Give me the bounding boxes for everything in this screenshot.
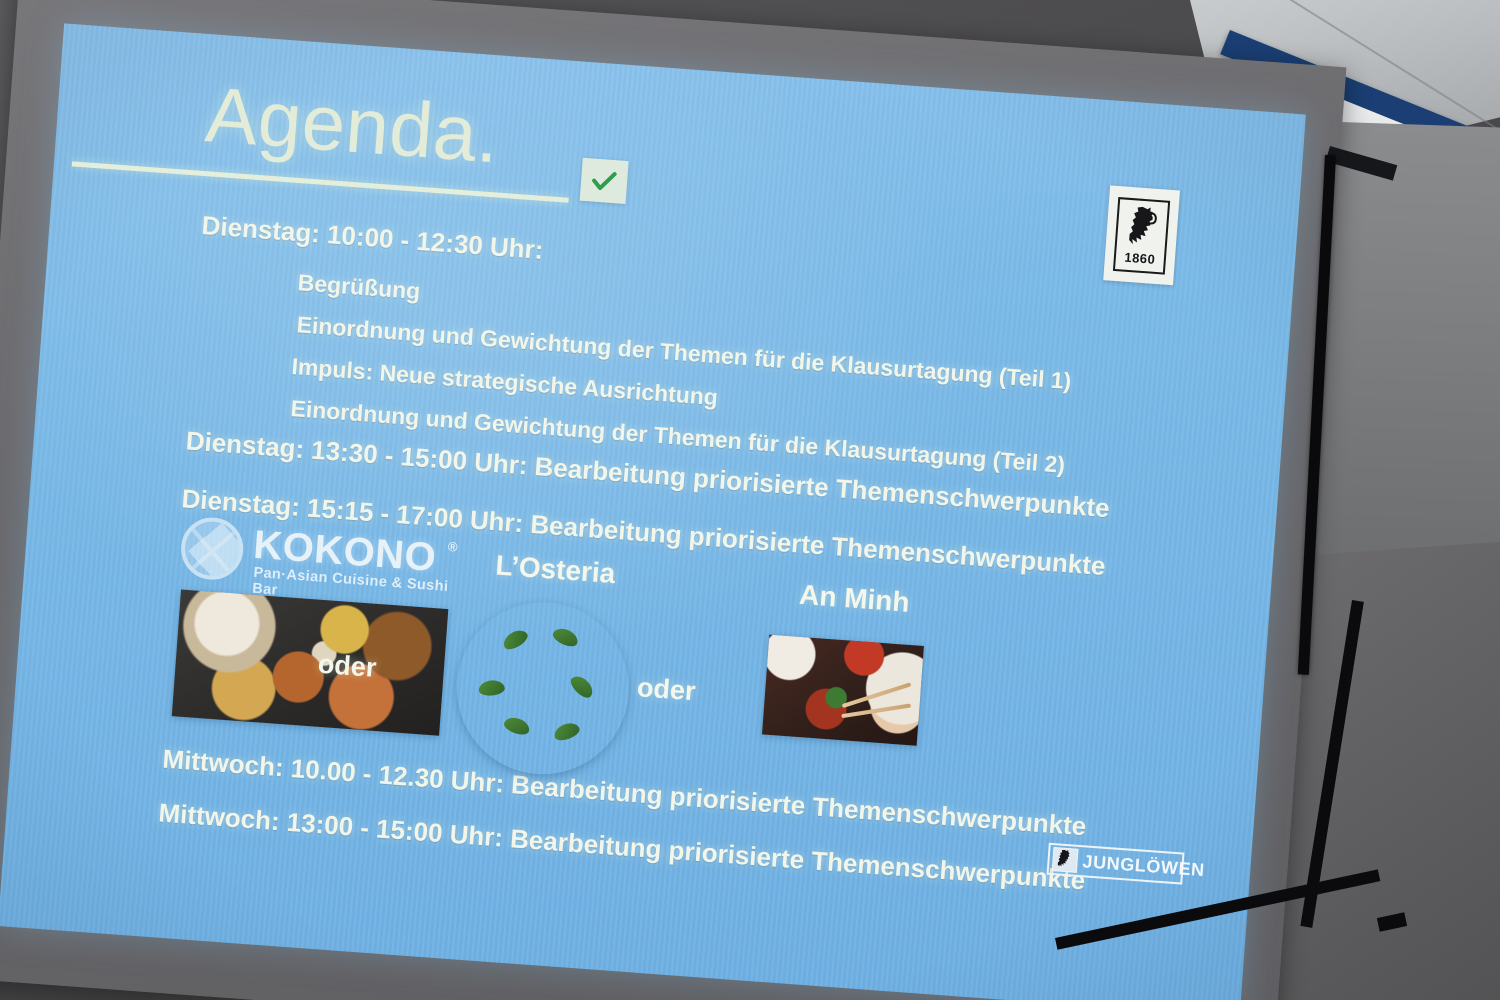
anminh-name-label: An Minh <box>798 579 910 619</box>
anminh-food-photo <box>762 635 924 746</box>
kokono-food-photo <box>172 589 449 735</box>
jungloewen-label: JUNGLÖWEN <box>1082 851 1206 881</box>
page-title: Agenda. <box>203 69 503 181</box>
losteria-pizza-photo <box>451 596 635 780</box>
agenda-line-item-1: Begrüßung <box>297 269 421 305</box>
kokono-registered-mark: ® <box>447 539 458 555</box>
jungloewen-crest-icon <box>1052 847 1079 873</box>
separator-oder-1: oder <box>317 649 378 684</box>
agenda-line-tue-morning: Dienstag: 10:00 - 12:30 Uhr: <box>201 210 545 266</box>
projection-screen: Agenda. 1860 <box>0 0 1346 1000</box>
losteria-name-label: L’Osteria <box>494 549 616 590</box>
kokono-mark-icon <box>179 515 245 581</box>
tsv-1860-crest-logo: 1860 <box>1103 185 1180 285</box>
meeting-room-scene: Agenda. 1860 <box>0 0 1500 1000</box>
separator-oder-2: oder <box>636 672 697 707</box>
crest-year-label: 1860 <box>1124 249 1156 266</box>
presentation-slide: Agenda. 1860 <box>0 23 1306 1000</box>
check-mark-icon <box>580 158 629 204</box>
